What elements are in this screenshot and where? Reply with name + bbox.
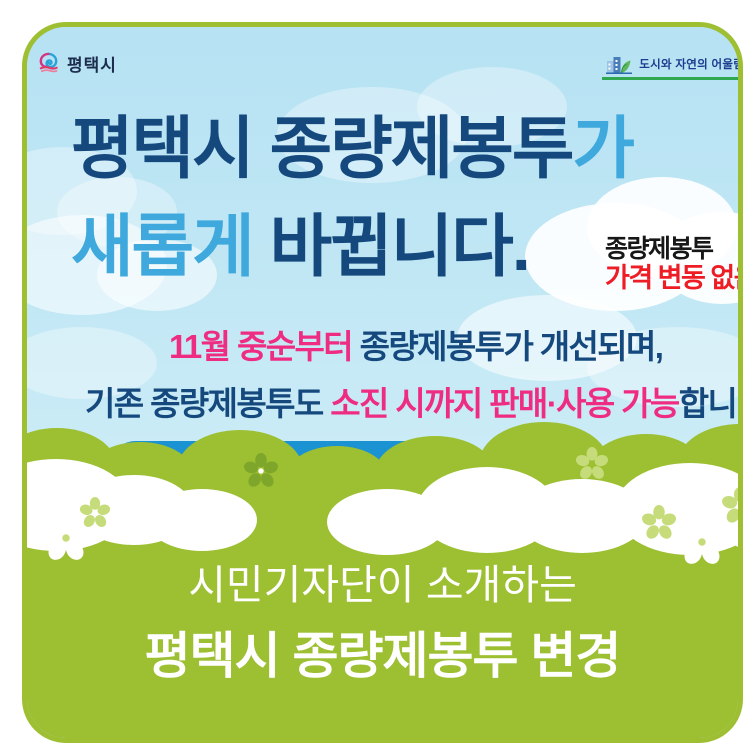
cherry-blossom-icon — [575, 447, 609, 481]
subcopy-line-2-highlight: 소진 시까지 판매·사용 가능 — [330, 385, 678, 422]
subcopy-line-2-lead: 기존 종량제봉투도 — [85, 385, 323, 422]
headline-line-1-tail: 가 — [572, 111, 633, 187]
gov-emblem: 도시와 자연의 어울림, 뭐 — [605, 53, 743, 75]
gov-emblem-underline — [602, 77, 743, 80]
price-badge-line-2: 가격 변동 없음 — [605, 263, 743, 293]
subcopy-line-2-tail: 합니다 — [679, 385, 743, 422]
city-nature-emblem-icon — [605, 53, 633, 75]
headline-line-2-lead: 새롭게 — [71, 209, 253, 285]
headline-line-2-main: 바뀝니다. — [270, 209, 529, 285]
poster-canvas: 평택시 도시와 자연의 어울림, 뭐 — [0, 0, 743, 743]
cherry-blossom-icon — [677, 517, 727, 567]
subcopy-line-1-highlight: 11월 중순부터 — [169, 328, 352, 365]
taegeuk-logo-icon — [37, 52, 60, 75]
poster-frame: 평택시 도시와 자연의 어울림, 뭐 — [22, 22, 743, 743]
price-badge: 종량제봉투 가격 변동 없음 — [605, 235, 743, 293]
headline-line-2: 새롭게 바뀝니다. — [71, 213, 529, 281]
headline-line-1: 평택시 종량제봉투가 — [71, 115, 633, 183]
cherry-blossom-icon — [641, 505, 677, 541]
city-logo: 평택시 — [37, 51, 117, 76]
cherry-blossom-icon — [721, 487, 743, 525]
subcopy-line-1-rest: 종량제봉투가 개선되며, — [360, 328, 663, 365]
subcopy-line-2: 기존 종량제봉투도 소진 시까지 판매·사용 가능합니다 — [85, 387, 743, 420]
cloud-scallop — [147, 489, 257, 551]
subcopy-line-1: 11월 중순부터 종량제봉투가 개선되며, — [169, 330, 662, 363]
gov-emblem-slogan: 도시와 자연의 어울림, 뭐 — [639, 56, 743, 72]
poster-header: 평택시 도시와 자연의 어울림, 뭐 — [27, 45, 738, 91]
footer-subtitle: 시민기자단이 소개하는 — [27, 565, 738, 606]
cherry-blossom-icon — [79, 497, 111, 529]
cherry-blossom-icon — [243, 453, 279, 489]
city-logo-label: 평택시 — [67, 51, 117, 76]
headline-line-1-main: 평택시 종량제봉투 — [71, 111, 572, 187]
price-badge-line-1: 종량제봉투 — [605, 235, 743, 263]
footer-title: 평택시 종량제봉투 변경 — [27, 631, 738, 681]
